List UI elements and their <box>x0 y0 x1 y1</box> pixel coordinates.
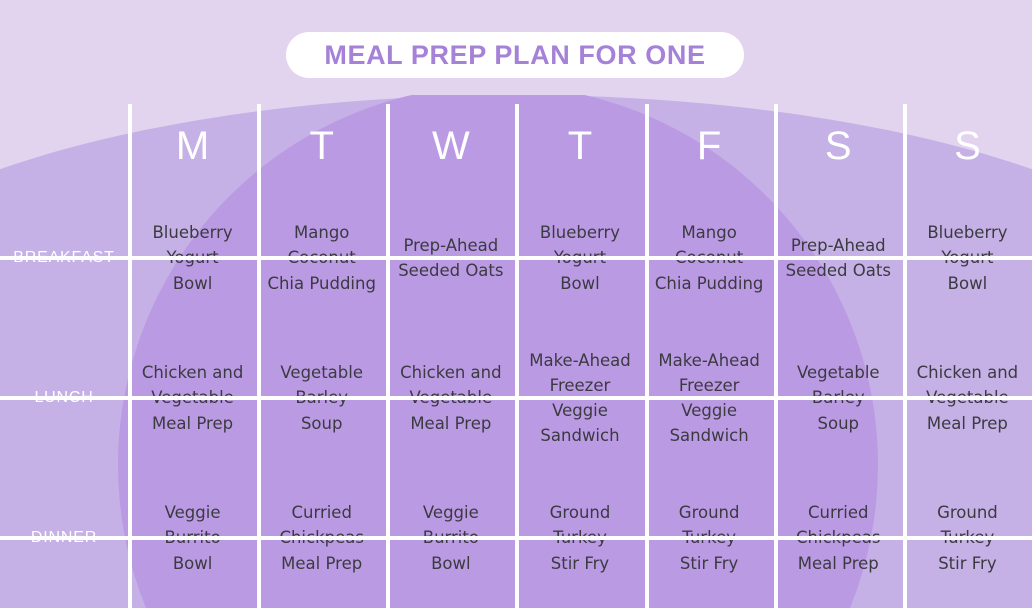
day-header-6: S <box>903 104 1032 188</box>
day-header-0: M <box>128 104 257 188</box>
meal-cell[interactable]: Mango Coconut Chia Pudding <box>257 188 386 328</box>
meal-cell[interactable]: Make-Ahead Freezer Veggie Sandwich <box>515 328 644 468</box>
meal-cell[interactable]: Blueberry Yogurt Bowl <box>903 188 1032 328</box>
grid-horizontal-line <box>645 536 774 540</box>
grid-horizontal-line <box>257 256 386 260</box>
day-header-label: W <box>432 126 470 166</box>
meal-cell[interactable]: Ground Turkey Stir Fry <box>903 468 1032 608</box>
meal-cell[interactable]: Veggie Burrito Bowl <box>128 468 257 608</box>
grid-vertical-line <box>645 104 649 188</box>
meal-cell[interactable]: Chicken and Vegetable Meal Prep <box>386 328 515 468</box>
day-header-label: F <box>697 126 721 166</box>
meal-cell[interactable]: Curried Chickpeas Meal Prep <box>774 468 903 608</box>
grid-vertical-line <box>774 104 778 188</box>
day-header-label: M <box>176 126 209 166</box>
grid-vertical-line <box>903 104 907 188</box>
grid-horizontal-line <box>0 256 128 260</box>
infographic-canvas: MEAL PREP PLAN FOR ONE MTWTFSSBREAKFASTB… <box>0 0 1032 608</box>
meal-cell[interactable]: Ground Turkey Stir Fry <box>515 468 644 608</box>
grid-horizontal-line <box>386 536 515 540</box>
day-header-1: T <box>257 104 386 188</box>
grid-horizontal-line <box>128 536 257 540</box>
day-header-label: S <box>954 126 981 166</box>
day-header-4: F <box>645 104 774 188</box>
grid-horizontal-line <box>903 256 1032 260</box>
grid-horizontal-line <box>128 256 257 260</box>
day-header-label: S <box>825 126 852 166</box>
grid-vertical-line <box>257 104 261 188</box>
day-header-3: T <box>515 104 644 188</box>
grid-vertical-line <box>515 104 519 188</box>
grid-vertical-line <box>386 104 390 188</box>
grid-horizontal-line <box>257 396 386 400</box>
meal-plan-table: MTWTFSSBREAKFASTBlueberry Yogurt BowlMan… <box>0 104 1032 608</box>
meal-cell[interactable]: Curried Chickpeas Meal Prep <box>257 468 386 608</box>
grid-horizontal-line <box>386 396 515 400</box>
meal-cell[interactable]: Vegetable Barley Soup <box>774 328 903 468</box>
grid-horizontal-line <box>515 536 644 540</box>
row-label-lunch: LUNCH <box>0 328 128 468</box>
grid-horizontal-line <box>515 256 644 260</box>
meal-cell[interactable]: Chicken and Vegetable Meal Prep <box>903 328 1032 468</box>
meal-cell[interactable]: Prep-Ahead Seeded Oats <box>774 188 903 328</box>
meal-cell[interactable]: Ground Turkey Stir Fry <box>645 468 774 608</box>
grid-horizontal-line <box>645 256 774 260</box>
grid-horizontal-line <box>0 396 128 400</box>
grid-horizontal-line <box>128 396 257 400</box>
day-header-label: T <box>309 126 333 166</box>
day-header-2: W <box>386 104 515 188</box>
grid-vertical-line <box>128 104 132 188</box>
grid-horizontal-line <box>386 256 515 260</box>
grid-horizontal-line <box>774 536 903 540</box>
title-pill: MEAL PREP PLAN FOR ONE <box>286 32 744 78</box>
grid-horizontal-line <box>257 536 386 540</box>
row-label-dinner: DINNER <box>0 468 128 608</box>
meal-cell[interactable]: Blueberry Yogurt Bowl <box>515 188 644 328</box>
meal-cell[interactable]: Vegetable Barley Soup <box>257 328 386 468</box>
grid-horizontal-line <box>903 536 1032 540</box>
table-corner-cell <box>0 104 128 188</box>
grid-horizontal-line <box>645 396 774 400</box>
meal-cell[interactable]: Mango Coconut Chia Pudding <box>645 188 774 328</box>
meal-cell[interactable]: Blueberry Yogurt Bowl <box>128 188 257 328</box>
page-title: MEAL PREP PLAN FOR ONE <box>324 40 705 71</box>
grid-horizontal-line <box>774 256 903 260</box>
day-header-5: S <box>774 104 903 188</box>
row-label-breakfast: BREAKFAST <box>0 188 128 328</box>
meal-cell[interactable]: Prep-Ahead Seeded Oats <box>386 188 515 328</box>
meal-cell[interactable]: Chicken and Vegetable Meal Prep <box>128 328 257 468</box>
grid-horizontal-line <box>515 396 644 400</box>
meal-cell[interactable]: Make-Ahead Freezer Veggie Sandwich <box>645 328 774 468</box>
meal-cell[interactable]: Veggie Burrito Bowl <box>386 468 515 608</box>
day-header-label: T <box>568 126 592 166</box>
grid-horizontal-line <box>774 396 903 400</box>
grid-horizontal-line <box>903 396 1032 400</box>
grid-horizontal-line <box>0 536 128 540</box>
